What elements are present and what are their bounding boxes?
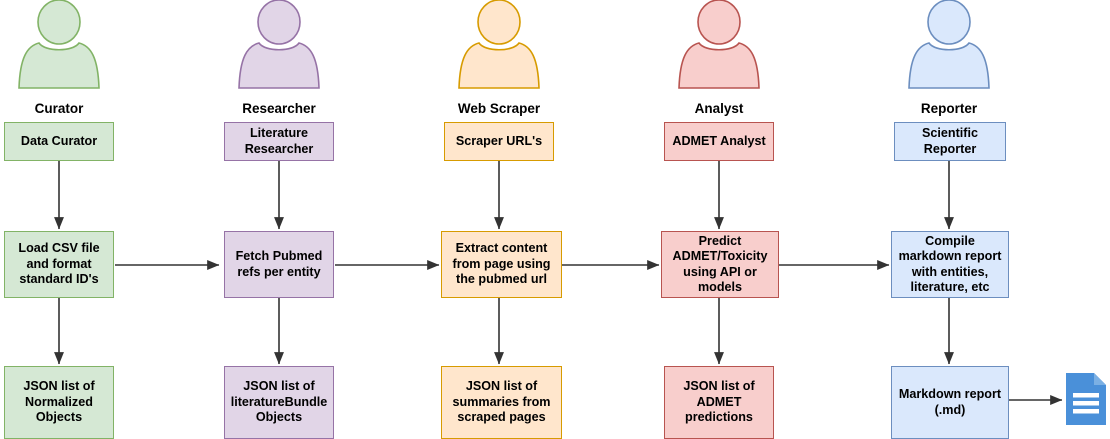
task-box-curator[interactable]: Load CSV file and format standard ID's bbox=[4, 231, 114, 298]
agent-box-reporter[interactable]: Scientific Reporter bbox=[894, 122, 1006, 161]
avatar-web-scraper bbox=[451, 0, 547, 92]
flowchart-canvas: Curator Data Curator Load CSV file and f… bbox=[0, 0, 1110, 439]
role-label-analyst: Analyst bbox=[629, 101, 809, 117]
role-label-web-scraper: Web Scraper bbox=[409, 101, 589, 117]
output-box-curator[interactable]: JSON list of Normalized Objects bbox=[4, 366, 114, 439]
person-avatar-icon bbox=[698, 0, 740, 44]
role-label-researcher: Researcher bbox=[189, 101, 369, 117]
agent-box-researcher[interactable]: Literature Researcher bbox=[224, 122, 334, 161]
role-label-reporter: Reporter bbox=[859, 101, 1039, 117]
task-box-web-scraper[interactable]: Extract content from page using the pubm… bbox=[441, 231, 562, 298]
agent-box-analyst[interactable]: ADMET Analyst bbox=[664, 122, 774, 161]
agent-box-web-scraper[interactable]: Scraper URL's bbox=[444, 122, 554, 161]
output-box-web-scraper[interactable]: JSON list of summaries from scraped page… bbox=[441, 366, 562, 439]
output-box-analyst[interactable]: JSON list of ADMET predictions bbox=[664, 366, 774, 439]
output-box-researcher[interactable]: JSON list of literatureBundle Objects bbox=[224, 366, 334, 439]
avatar-researcher bbox=[231, 0, 327, 92]
agent-box-curator[interactable]: Data Curator bbox=[4, 122, 114, 161]
avatar-reporter bbox=[901, 0, 997, 92]
person-avatar-icon bbox=[478, 0, 520, 44]
avatar-analyst bbox=[671, 0, 767, 92]
document-file-icon[interactable] bbox=[1066, 373, 1106, 425]
task-box-analyst[interactable]: Predict ADMET/Toxicity using API or mode… bbox=[661, 231, 779, 298]
task-box-reporter[interactable]: Compile markdown report with entities, l… bbox=[891, 231, 1009, 298]
role-label-curator: Curator bbox=[0, 101, 149, 117]
avatar-curator bbox=[11, 0, 107, 92]
person-avatar-icon bbox=[928, 0, 970, 44]
task-box-researcher[interactable]: Fetch Pubmed refs per entity bbox=[224, 231, 334, 298]
person-avatar-icon bbox=[38, 0, 80, 44]
output-box-reporter[interactable]: Markdown report (.md) bbox=[891, 366, 1009, 439]
person-avatar-icon bbox=[258, 0, 300, 44]
